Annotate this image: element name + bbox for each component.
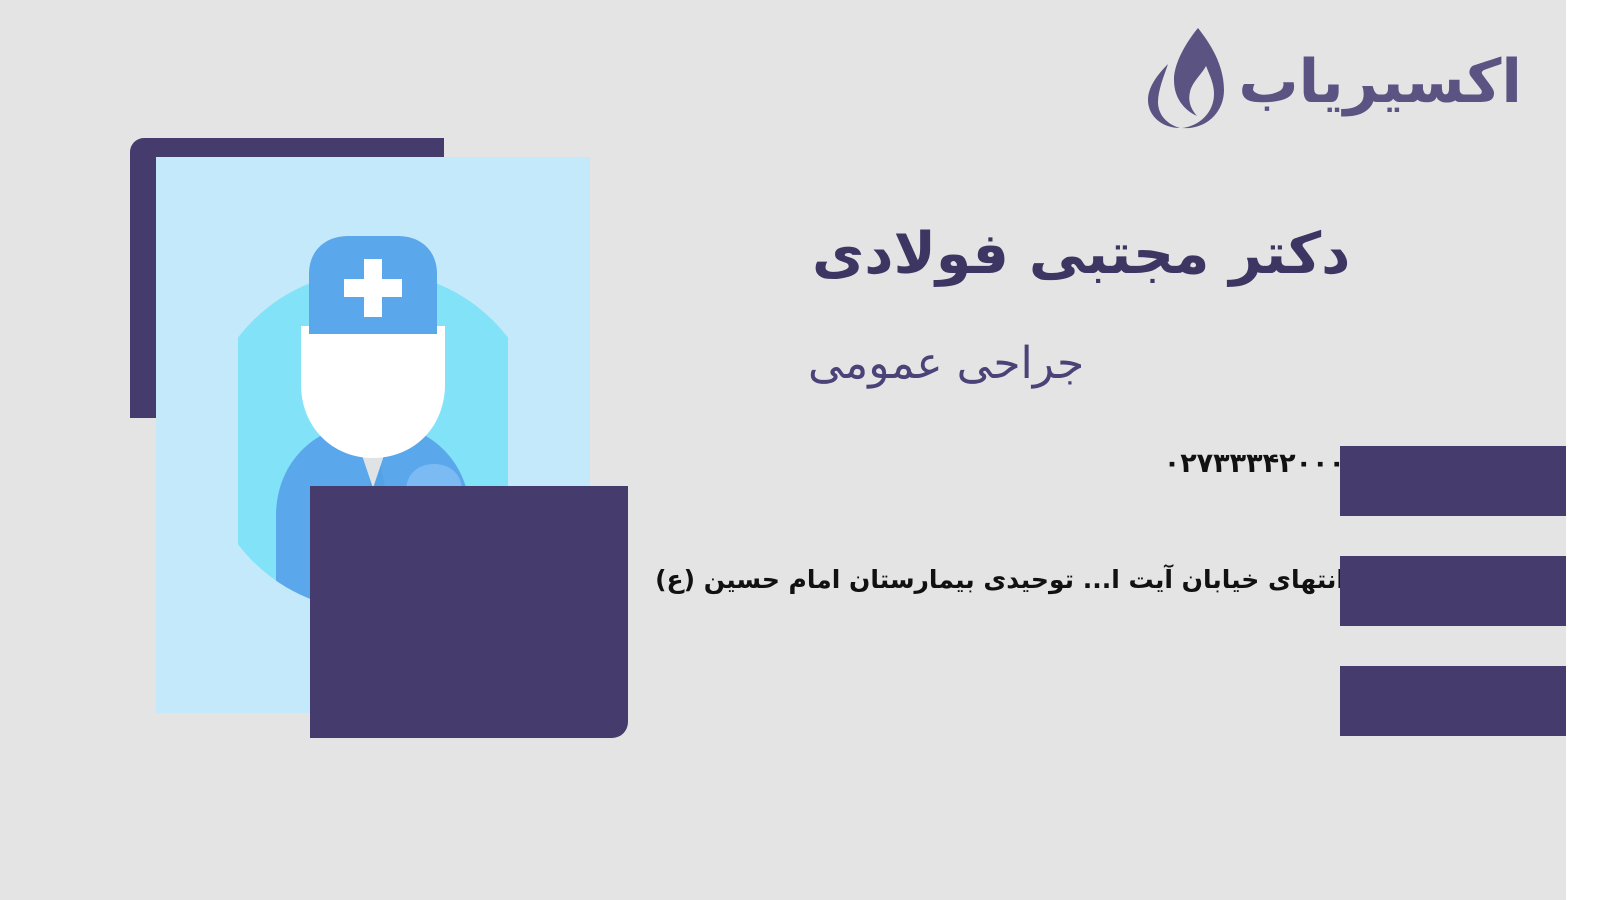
brand-logo-text: اکسیریاب [1238, 52, 1522, 112]
decor-bar-2 [1340, 556, 1566, 626]
doctor-address: انتهای خیابان آیت ا... توحیدی بیمارستان … [655, 565, 1345, 594]
decor-bar-3 [1340, 666, 1566, 736]
flame-drop-icon [1144, 26, 1226, 130]
decor-bar-1 [1340, 446, 1566, 516]
doctor-phone[interactable]: ۰۲۷۳۳۳۴۲۰۰۰ [1164, 448, 1345, 479]
business-card-canvas: اکسیریاب [0, 0, 1600, 900]
decor-square-front [310, 486, 628, 738]
doctor-name: دکتر مجتبی فولادی [812, 222, 1512, 288]
doctor-illustration [130, 138, 630, 740]
doctor-specialty: جراحی عمومی [808, 338, 1508, 391]
brand-logo[interactable]: اکسیریاب [1144, 26, 1522, 130]
